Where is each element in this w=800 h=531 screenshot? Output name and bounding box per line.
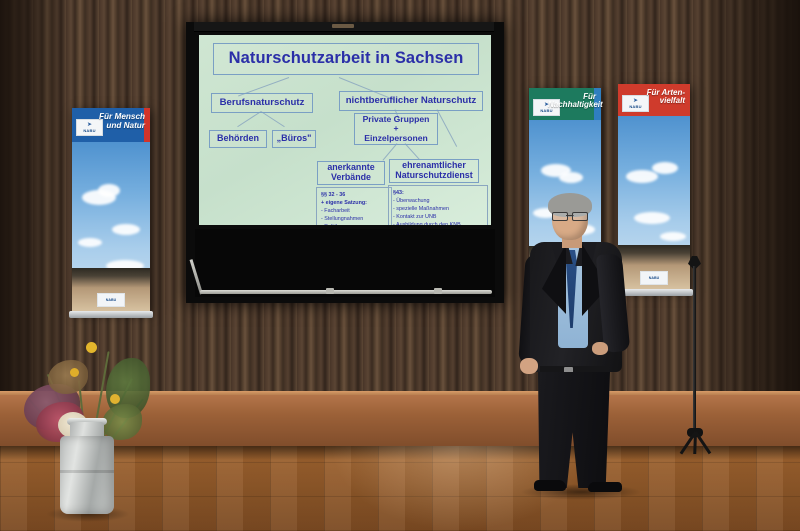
banner-photo: NABU: [72, 142, 150, 312]
screen-bottom-bar: [200, 290, 492, 294]
speaker-shoe: [588, 482, 622, 492]
anerkannte-line-2: Verbände: [331, 173, 371, 183]
cloud-shape: [78, 238, 102, 247]
projected-slide: Naturschutzarbeit in Sachsen Berufsnatur…: [199, 35, 491, 225]
cloud-shape: [660, 232, 686, 241]
mic-stand-pole: [693, 266, 696, 438]
banner-title-line-2: Nachhaltigkeit: [548, 101, 596, 109]
nabu-foot-logo-text: NABU: [649, 276, 659, 280]
presentation-photo-scene: Naturschutzarbeit in Sachsen Berufsnatur…: [0, 0, 800, 531]
yellow-flower: [70, 368, 79, 377]
banner-fuer-mensch-und-natur: ➤ NABU Für Mensch und Natur NABU: [72, 108, 150, 312]
speaker-left-hand: [520, 358, 538, 374]
slide-connector: [437, 109, 458, 147]
detail-left-item: - Politik: [321, 223, 387, 225]
milk-can-body: [60, 436, 114, 514]
ehrenamtlich-line-2: Naturschutzdienst: [395, 171, 472, 181]
slide-box-berufsnaturschutz: Berufsnaturschutz: [211, 93, 313, 113]
banner-title: Für Arten- vielfalt: [637, 89, 685, 106]
detail-left-item: - Stellungnahmen: [321, 215, 387, 223]
nabu-foot-logo-icon: NABU: [97, 293, 125, 307]
detail-right-item: - Überwachung: [393, 197, 483, 205]
slide-box-nichtberuflicher-naturschutz: nichtberuflicher Naturschutz: [339, 91, 483, 111]
banner-title-line-2: vielfalt: [637, 97, 685, 105]
speaker-trousers: [538, 372, 610, 488]
nabu-foot-logo-text: NABU: [106, 298, 116, 302]
slide-box-bueros: „Büros": [272, 130, 316, 148]
green-foliage-cluster: [102, 404, 142, 440]
cloud-shape: [98, 184, 120, 197]
detail-right-item: - Ausbildung durch den KNB: [393, 221, 483, 225]
projection-screen: Naturschutzarbeit in Sachsen Berufsnatur…: [186, 22, 504, 307]
speaker-right-hand: [592, 342, 608, 355]
detail-right-heading: §43:: [393, 190, 404, 196]
cloud-shape: [559, 172, 583, 183]
slide-detail-box-verbaende: §§ 32 - 36 + eigene Satzung: - Facharbei…: [316, 187, 392, 225]
banner-base-foot: [69, 311, 153, 318]
detail-left-heading: §§ 32 - 36: [321, 192, 345, 198]
speaker-shoe: [534, 480, 566, 491]
cloud-shape: [626, 170, 658, 183]
eyeglasses-icon: [552, 212, 588, 219]
slide-box-behoerden: Behörden: [209, 130, 267, 148]
yellow-flower: [110, 394, 120, 404]
dried-foliage-cluster: [48, 360, 88, 394]
slide-connector: [261, 111, 285, 127]
slide-detail-box-naturschutzdienst: §43: - Überwachung - spezielle Maßnahmen…: [388, 185, 488, 225]
slide-title: Naturschutzarbeit in Sachsen: [213, 43, 479, 75]
detail-left-subheading: + eigene Satzung:: [321, 200, 367, 206]
detail-right-item: - Kontakt zur UNB: [393, 213, 483, 221]
flower-arrangement-in-milk-can: [18, 330, 154, 520]
milk-can-band: [60, 470, 114, 473]
slide-connector: [405, 143, 420, 160]
detail-left-item: - Facharbeit: [321, 207, 387, 215]
slide-box-private-gruppen: Private Gruppen + Einzelpersonen: [354, 113, 438, 145]
speaker-person: [516, 196, 642, 488]
cloud-shape: [652, 162, 678, 174]
slide-box-anerkannte-verbaende: anerkannte Verbände: [317, 161, 385, 185]
screen-mount-notch: [332, 24, 354, 28]
screen-bar-clip: [434, 288, 442, 294]
private-line-3: Einzelpersonen: [364, 134, 428, 143]
detail-right-item: - spezielle Maßnahmen: [393, 205, 483, 213]
mic-stand-leg: [693, 432, 696, 454]
screen-bar-clip: [326, 288, 334, 294]
banner-title: Für Nachhaltigkeit: [548, 93, 596, 110]
yellow-flower: [86, 342, 97, 353]
sky-image: [72, 142, 150, 312]
slide-box-ehrenamtlicher-naturschutzdienst: ehrenamtlicher Naturschutzdienst: [389, 159, 479, 183]
banner-title: Für Mensch und Natur: [93, 113, 145, 130]
banner-title-line-2: und Natur: [93, 122, 145, 131]
screen-lower-fabric: [195, 229, 495, 297]
slide-connector: [237, 111, 261, 127]
cloud-shape: [112, 224, 140, 235]
microphone-stand: [660, 256, 730, 460]
